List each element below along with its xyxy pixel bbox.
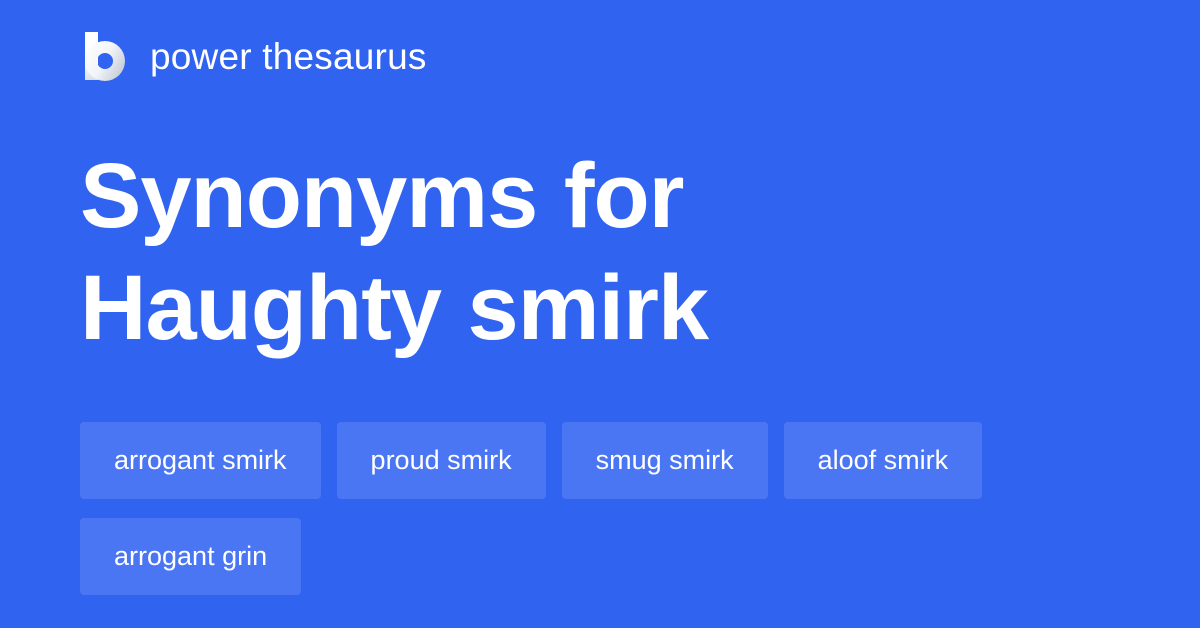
synonym-chip[interactable]: smug smirk bbox=[562, 422, 768, 499]
page-title: Synonyms for Haughty smirk bbox=[80, 140, 1040, 364]
synonym-chip[interactable]: arrogant grin bbox=[80, 518, 301, 595]
synonym-chip-list: arrogant smirk proud smirk smug smirk al… bbox=[80, 422, 1120, 595]
brand-header[interactable]: power thesaurus bbox=[80, 28, 427, 84]
synonym-chip[interactable]: proud smirk bbox=[337, 422, 546, 499]
synonym-chip[interactable]: aloof smirk bbox=[784, 422, 983, 499]
synonym-chip[interactable]: arrogant smirk bbox=[80, 422, 321, 499]
power-thesaurus-share-card: power thesaurus Synonyms for Haughty smi… bbox=[0, 0, 1200, 628]
power-thesaurus-b-logo-icon bbox=[80, 30, 128, 82]
brand-name: power thesaurus bbox=[150, 38, 427, 75]
